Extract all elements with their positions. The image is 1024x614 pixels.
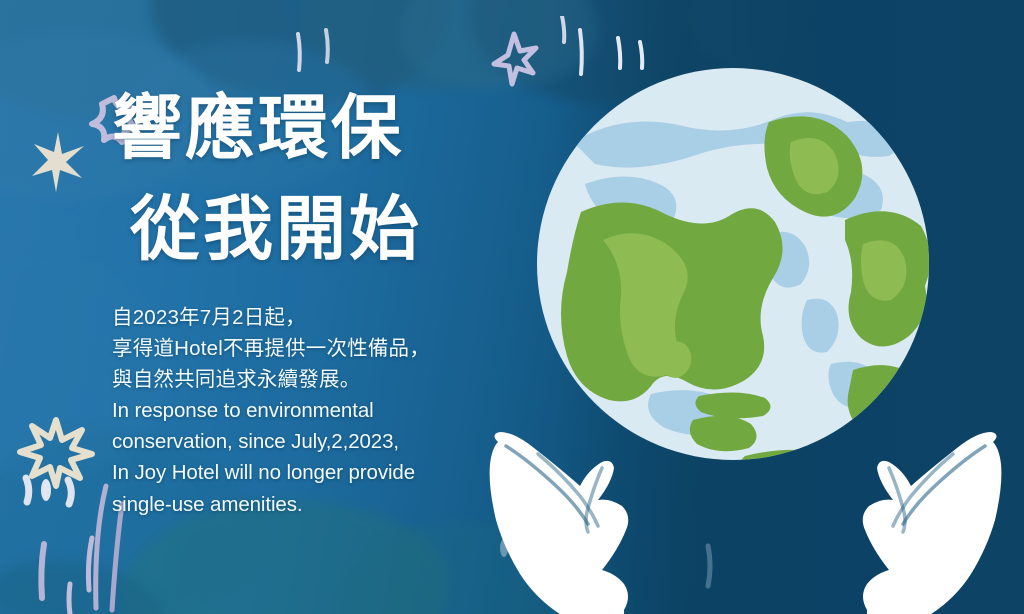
droplet-marks-right-icon — [688, 540, 748, 610]
headline-line-1: 響應環保 — [112, 89, 404, 167]
text-column: 響應環保 從我開始 自2023年7月2日起， 享得道Hotel不再提供一次性備品… — [112, 78, 512, 520]
body-en-line-2: conservation, since July,2,2023, — [112, 426, 512, 457]
cupped-hand-right-illustration — [800, 424, 1015, 614]
star-solid-cream-left-icon — [22, 126, 94, 198]
body-zh-line-3: 與自然共同追求永續發展。 — [112, 364, 512, 395]
body-zh-line-1: 自2023年7月2日起， — [112, 302, 512, 333]
body-en-line-3: In Joy Hotel will no longer provide — [112, 457, 512, 488]
body-copy: 自2023年7月2日起， 享得道Hotel不再提供一次性備品， 與自然共同追求永… — [112, 302, 512, 520]
headline-line-2: 從我開始 — [112, 179, 512, 280]
earth-globe-illustration — [533, 64, 933, 464]
body-zh-line-2: 享得道Hotel不再提供一次性備品， — [112, 333, 512, 364]
body-en-line-1: In response to environmental — [112, 395, 512, 426]
eco-poster: 響應環保 從我開始 自2023年7月2日起， 享得道Hotel不再提供一次性備品… — [0, 0, 1024, 614]
page-title: 響應環保 從我開始 — [112, 78, 512, 280]
body-en-line-4: single-use amenities. — [112, 489, 512, 520]
